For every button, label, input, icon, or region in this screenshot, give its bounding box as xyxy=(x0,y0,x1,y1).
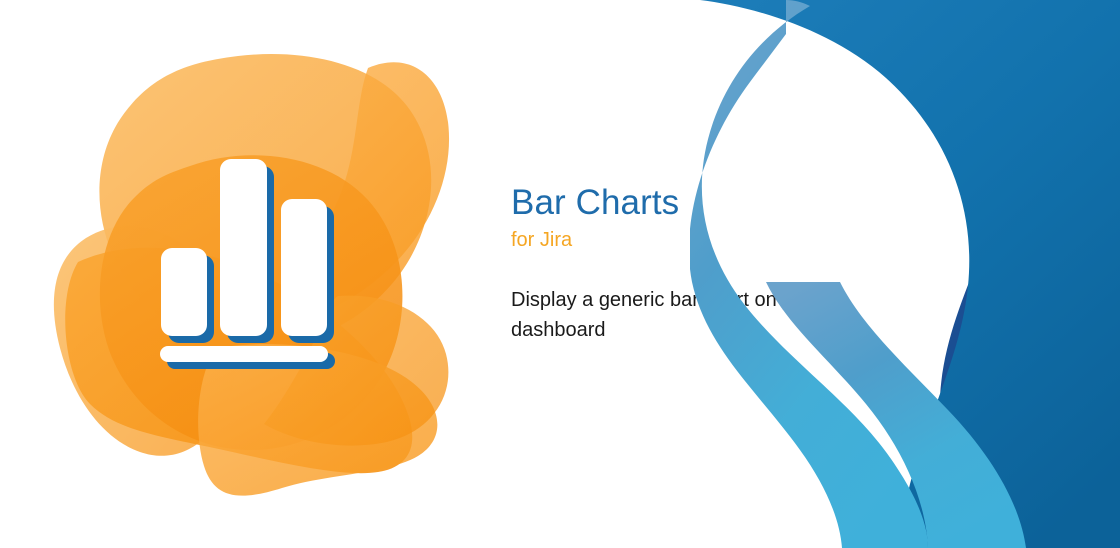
app-description: Display a generic bar chart on your dash… xyxy=(511,285,893,345)
page-title: Bar Charts xyxy=(511,182,911,223)
baseline-rule xyxy=(160,346,328,362)
bar-1-short xyxy=(161,248,207,336)
wave-layer-navy xyxy=(940,0,1120,548)
app-text-block: Bar Charts for Jira Display a generic ba… xyxy=(511,182,911,345)
app-subtitle: for Jira xyxy=(511,227,911,253)
bar-2-tall xyxy=(220,159,267,336)
marketplace-banner: Bar Charts for Jira Display a generic ba… xyxy=(0,0,1120,548)
bar-3-medium xyxy=(281,199,327,336)
bar-chart-app-logo xyxy=(38,48,458,503)
logo-artwork xyxy=(38,48,458,503)
